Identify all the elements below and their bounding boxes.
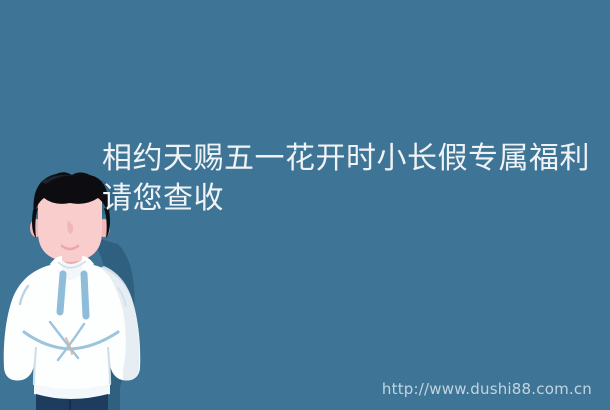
drawstring-right [84, 274, 86, 316]
site-url-watermark: http://www.dushi88.com.cn [382, 380, 592, 398]
promo-banner: 相约天赐五一花开时小长假专属福利请您查收 http://www.dushi88.… [0, 0, 610, 410]
banner-headline: 相约天赐五一花开时小长假专属福利请您查收 [102, 139, 602, 219]
drawstring-left [60, 274, 63, 312]
hoodie [4, 256, 140, 399]
